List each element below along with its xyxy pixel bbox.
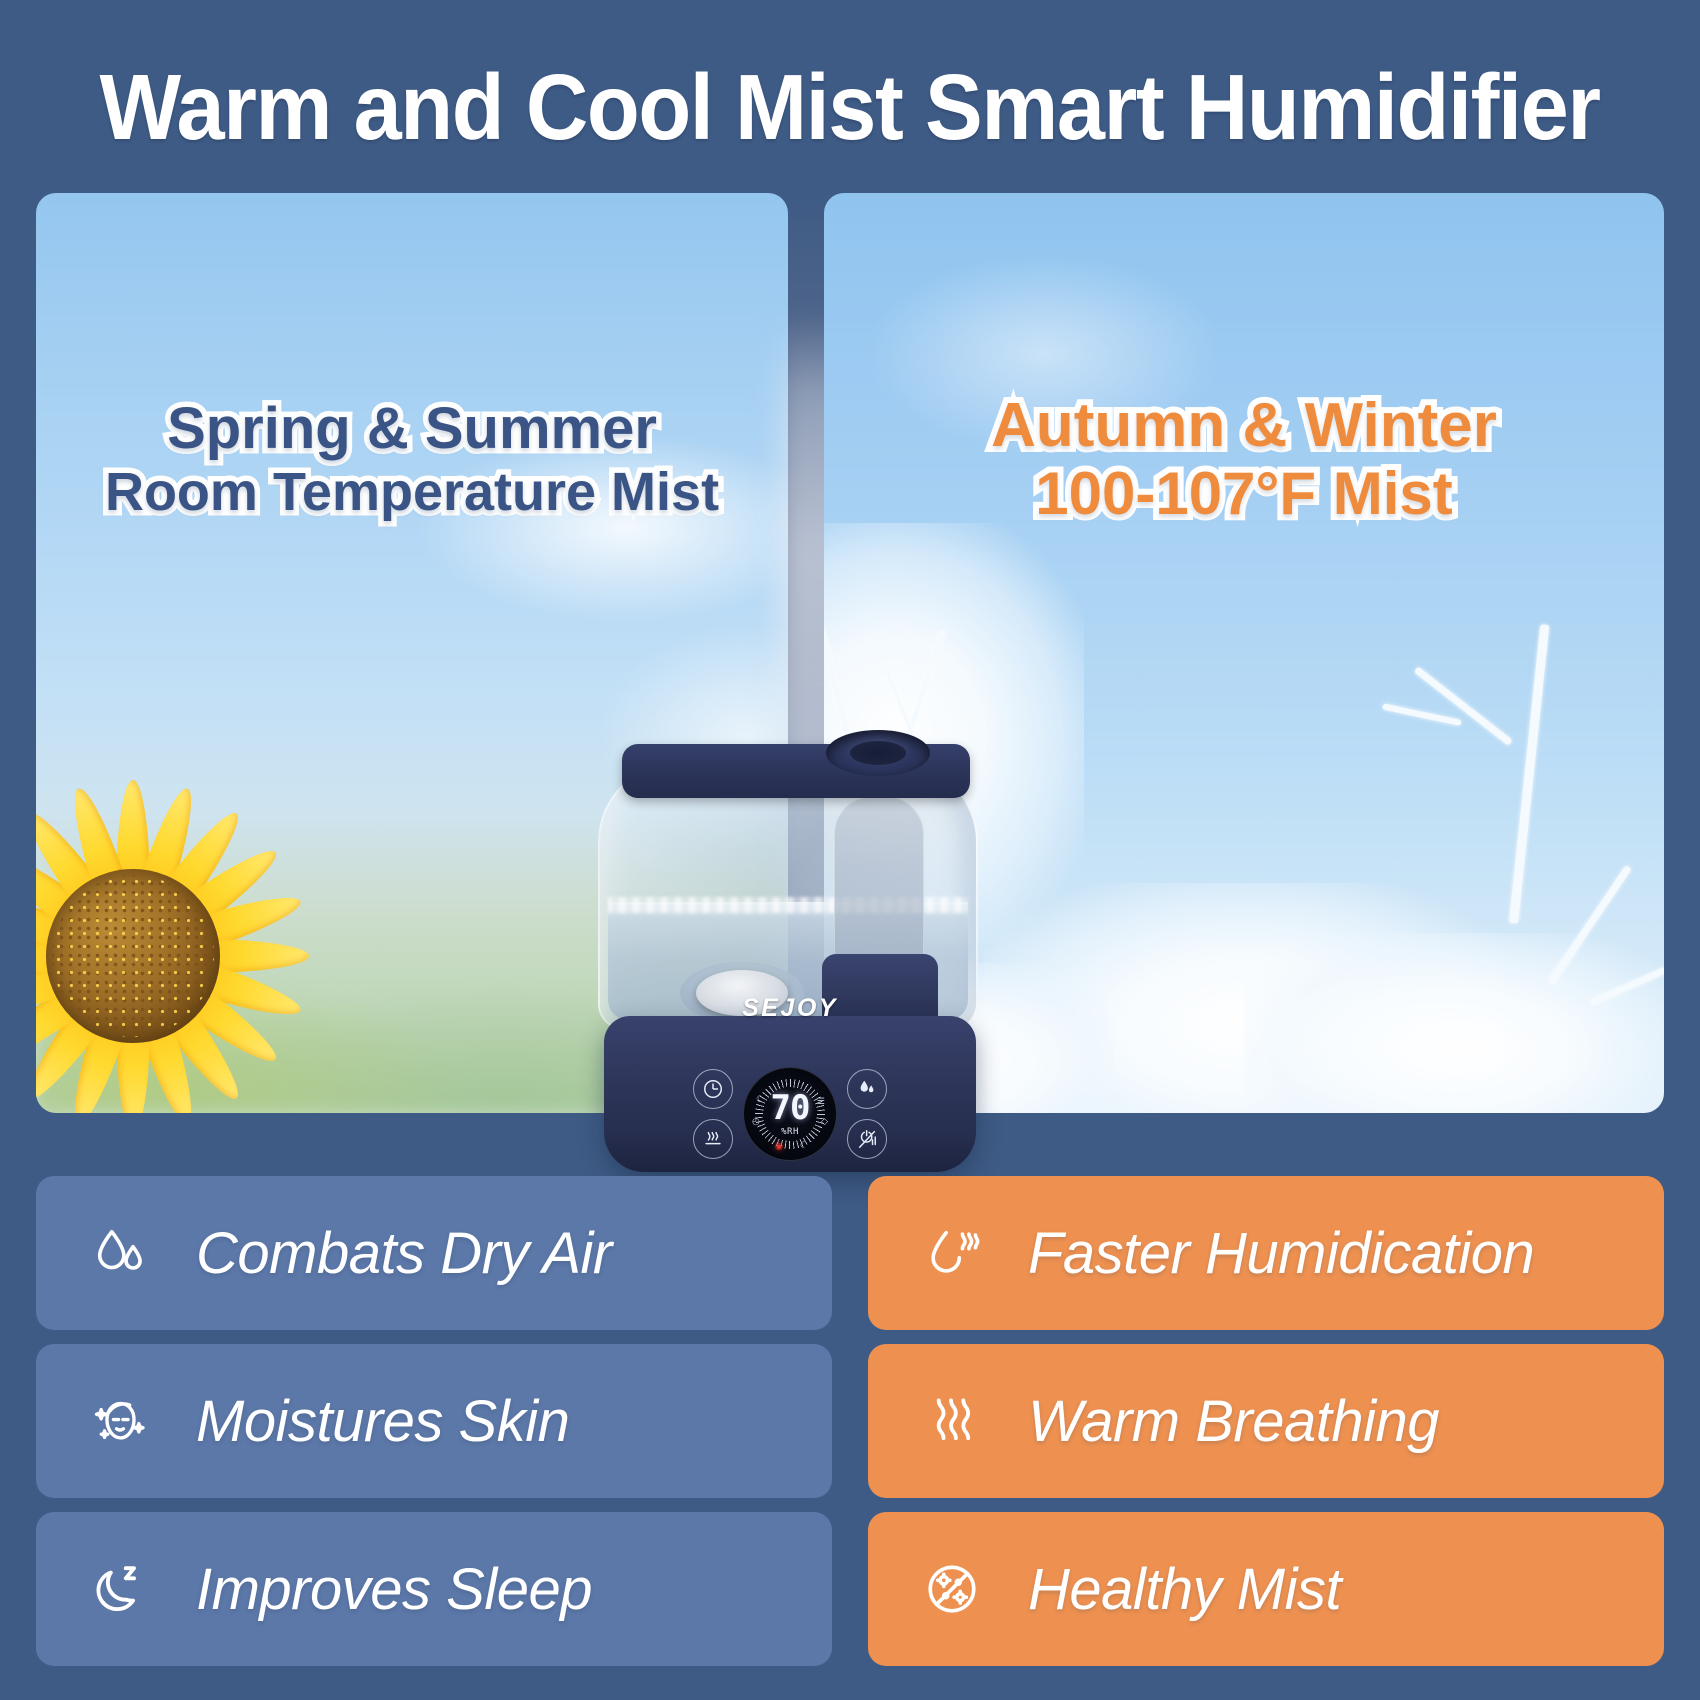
page-title: Warm and Cool Mist Smart Humidifier [100, 54, 1600, 161]
display-drop-icon: ◇ [821, 1116, 828, 1127]
page-title-bar: Warm and Cool Mist Smart Humidifier [0, 48, 1700, 166]
heading-line-1: Spring & Summer [36, 397, 788, 462]
humidifier-product-image: SEJOY ☾ [598, 718, 1003, 1178]
drop-heat-icon [920, 1221, 984, 1285]
heading-line-1: Autumn & Winter [824, 391, 1664, 460]
led-display: ☾ ☰ ◴ ◇ ◉ ☾ 70 %RH [743, 1067, 837, 1161]
sunflower-center [46, 869, 220, 1043]
moon-sleep-icon [88, 1557, 152, 1621]
sunflower-image [36, 741, 348, 1113]
feature-label: Warm Breathing [1028, 1388, 1439, 1455]
heading-line-2: 100-107°F Mist [824, 460, 1664, 527]
power-speed-button[interactable] [847, 1119, 887, 1159]
feature-column-warm: Faster Humidication Warm Breathing [868, 1176, 1664, 1666]
brand-logo: SEJOY [604, 994, 976, 1023]
humidifier-base: SEJOY ☾ [604, 1016, 976, 1172]
feature-pill-improves-sleep[interactable]: Improves Sleep [36, 1512, 832, 1666]
heading-line-2: Room Temperature Mist [36, 462, 788, 522]
display-sleep-icon: ☾ [800, 1140, 808, 1151]
timer-button[interactable] [693, 1069, 733, 1109]
display-timer-icon: ◴ [752, 1116, 760, 1127]
water-drops-icon [88, 1221, 152, 1285]
feature-pills: Combats Dry Air Moistures Skin [36, 1176, 1664, 1666]
display-tick-ring [752, 1076, 828, 1152]
steam-waves-icon [920, 1389, 984, 1453]
display-mist-bars-icon: ☰ [817, 1096, 825, 1107]
panel-heading-autumn-winter: Autumn & Winter 100-107°F Mist [824, 391, 1664, 528]
panel-heading-spring-summer: Spring & Summer Room Temperature Mist [36, 397, 788, 522]
warm-mist-button[interactable] [693, 1119, 733, 1159]
feature-label: Improves Sleep [196, 1556, 592, 1623]
germ-free-icon [920, 1557, 984, 1621]
feature-label: Moistures Skin [196, 1388, 569, 1455]
mist-level-button[interactable] [847, 1069, 887, 1109]
mist-tube [834, 796, 924, 980]
feature-pill-faster-humidication[interactable]: Faster Humidication [868, 1176, 1664, 1330]
feature-column-cool: Combats Dry Air Moistures Skin [36, 1176, 832, 1666]
feature-pill-moistures-skin[interactable]: Moistures Skin [36, 1344, 832, 1498]
feature-label: Faster Humidication [1028, 1220, 1534, 1287]
feature-pill-healthy-mist[interactable]: Healthy Mist [868, 1512, 1664, 1666]
feature-label: Combats Dry Air [196, 1220, 612, 1287]
display-warm-indicator: ◉ [775, 1141, 783, 1152]
feature-pill-warm-breathing[interactable]: Warm Breathing [868, 1344, 1664, 1498]
display-night-icon: ☾ [756, 1094, 764, 1105]
control-panel: ☾ ☰ ◴ ◇ ◉ ☾ 70 %RH [604, 1068, 976, 1160]
mist-nozzle [826, 730, 930, 776]
feature-label: Healthy Mist [1028, 1556, 1341, 1623]
face-sparkle-icon [88, 1389, 152, 1453]
feature-pill-combats-dry-air[interactable]: Combats Dry Air [36, 1176, 832, 1330]
